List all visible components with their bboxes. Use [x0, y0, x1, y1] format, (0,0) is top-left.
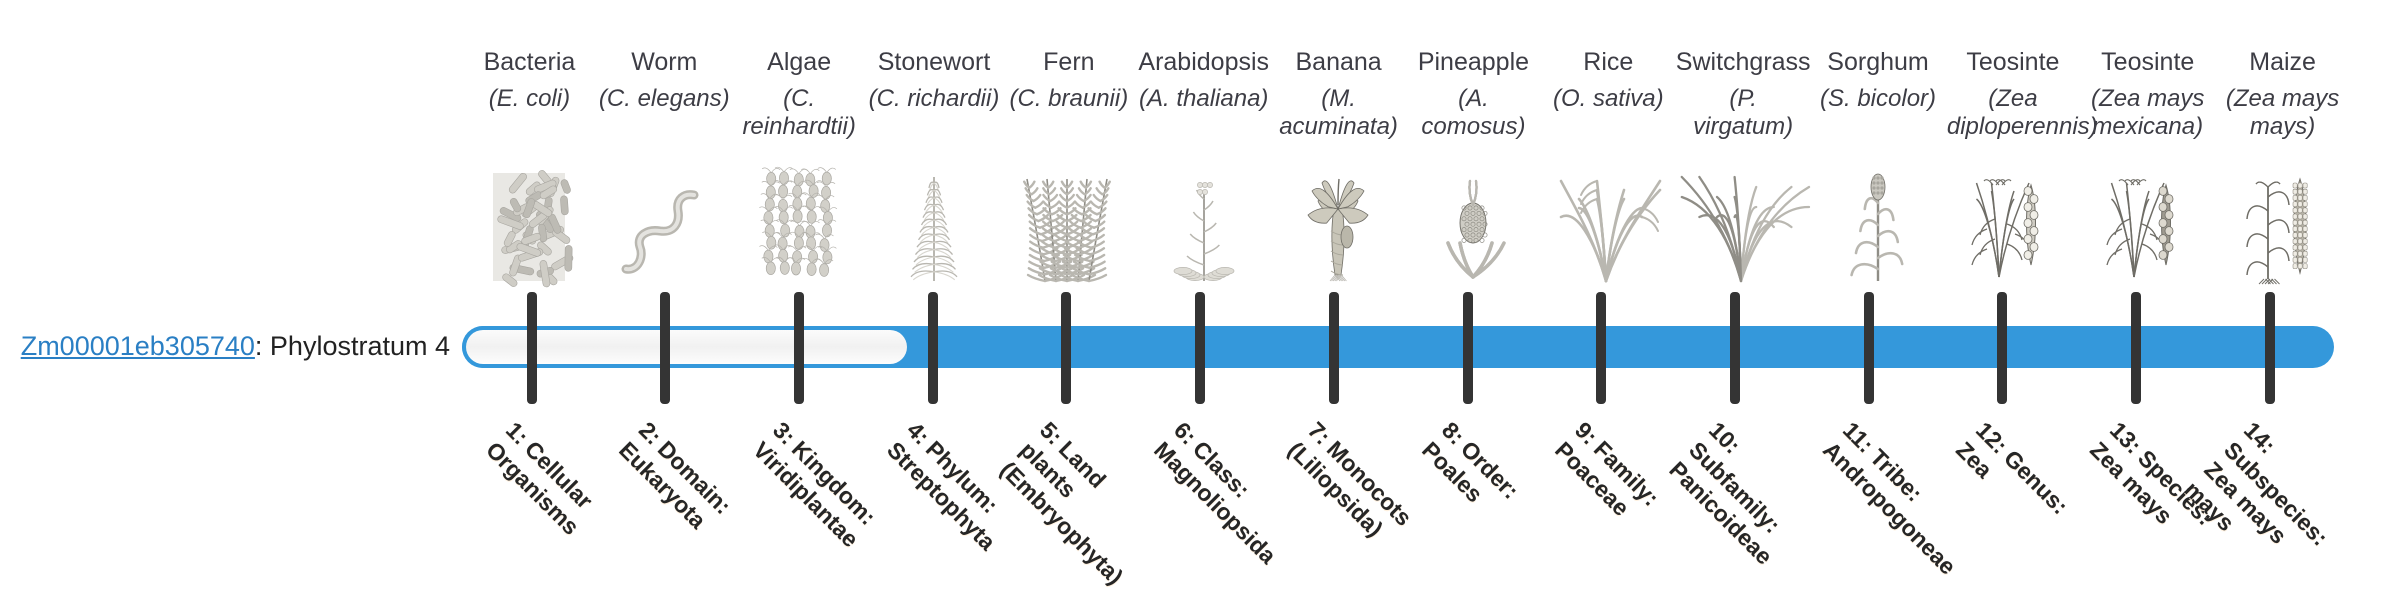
species-latin-name: (C. richardii): [868, 85, 1000, 113]
stratum-tick-4[interactable]: [928, 292, 938, 404]
species-latin-name: (S. bicolor): [1812, 85, 1944, 113]
stratum-tick-7[interactable]: [1329, 292, 1339, 404]
stratum-tick-13[interactable]: [2131, 292, 2141, 404]
phylostratigraphy-diagram: Zm00001eb305740: Phylostratum 4 Bacteria…: [0, 0, 2400, 580]
stratum-tick-11[interactable]: [1864, 292, 1874, 404]
species-common-name: Maize: [2249, 48, 2316, 77]
stratum-tick-5[interactable]: [1061, 292, 1071, 404]
algae-cells-icon: [738, 166, 860, 281]
stratum-rank-label-3: 3: Kingdom: Viridiplantae: [747, 416, 890, 559]
stratum-rank-label-4: 4: Phylum: Streptophyta: [881, 416, 1024, 559]
species-common-name: Banana: [1295, 48, 1381, 77]
species-column-arabidopsis-6: Arabidopsis(A. thaliana): [1136, 48, 1271, 298]
stratum-tick-9[interactable]: [1596, 292, 1606, 404]
species-latin-name: (Zea diploperennis): [1947, 85, 2079, 142]
stratum-rank-label-10: 10: Subfamily: Panicoideae: [1663, 416, 1826, 579]
stratum-rank-label-5: 5: Land plants (Embryophyta): [995, 416, 1158, 579]
species-common-name: Stonewort: [878, 48, 991, 77]
species-column-algae-3: Algae(C. reinhardtii): [732, 48, 867, 298]
stratum-tick-12[interactable]: [1997, 292, 2007, 404]
species-column-switchgrass-10: Switchgrass(P. virgatum): [1676, 48, 1811, 298]
species-common-name: Pineapple: [1418, 48, 1529, 77]
species-common-name: Rice: [1583, 48, 1633, 77]
species-column-banana-7: Banana(M. acuminata): [1271, 48, 1406, 298]
bacteria-rods-icon: [468, 166, 590, 281]
stratum-rank-label-12: 12: Genus: Zea: [1951, 416, 2094, 559]
teosinte-plant-ear-icon: [1952, 166, 2074, 281]
species-common-name: Teosinte: [2101, 48, 2194, 77]
gene-phylostratum-label: Zm00001eb305740: Phylostratum 4: [0, 333, 450, 360]
species-latin-name: (M. acuminata): [1273, 85, 1405, 142]
species-latin-name: (A. comosus): [1407, 85, 1539, 142]
sorghum-panicle-icon: [1817, 166, 1939, 281]
switchgrass-clump-icon: [1682, 166, 1804, 281]
stratum-rank-label-8: 8: Order: Poales: [1416, 416, 1559, 559]
species-column-fern-5: Fern(C. braunii): [1001, 48, 1136, 298]
species-common-name: Bacteria: [484, 48, 576, 77]
maize-plant-cob-icon: [2222, 166, 2344, 281]
species-column-teosinte-13: Teosinte(Zea mays mexicana): [2080, 48, 2215, 298]
species-column-bacteria-1: Bacteria(E. coli): [462, 48, 597, 298]
species-common-name: Arabidopsis: [1138, 48, 1269, 77]
teosinte-plant-ear-icon: [2087, 166, 2209, 281]
stratum-rank-text: Class: Magnoliopsida: [1149, 436, 1281, 569]
species-latin-name: (C. reinhardtii): [733, 85, 865, 142]
stratum-rank-text: Domain: Eukaryota: [614, 436, 736, 534]
species-column-worm-2: Worm(C. elegans): [597, 48, 732, 298]
stratum-tick-1[interactable]: [527, 292, 537, 404]
stratum-rank-text: Tribe: Andropogoneae: [1818, 437, 1961, 580]
arabidopsis-rosette-icon: [1143, 166, 1265, 281]
gene-id-link[interactable]: Zm00001eb305740: [21, 331, 255, 361]
stratum-tick-10[interactable]: [1730, 292, 1740, 404]
species-common-name: Sorghum: [1827, 48, 1928, 77]
fern-frond-icon: [1008, 166, 1130, 281]
species-column-stonewort-4: Stonewort(C. richardii): [867, 48, 1002, 298]
species-common-name: Algae: [767, 48, 831, 77]
species-common-name: Switchgrass: [1676, 48, 1811, 77]
species-header-row: Bacteria(E. coli)Worm(C. elegans)Algae(C…: [462, 48, 2350, 298]
gene-label-separator: :: [255, 331, 270, 361]
stratum-tick-6[interactable]: [1195, 292, 1205, 404]
species-common-name: Worm: [631, 48, 697, 77]
species-column-pineapple-8: Pineapple(A. comosus): [1406, 48, 1541, 298]
stratum-rank-text: Monocots (Liliopsida): [1283, 436, 1417, 542]
species-column-sorghum-11: Sorghum(S. bicolor): [1811, 48, 1946, 298]
species-latin-name: (Zea mays mays): [2217, 85, 2349, 142]
stonewort-alga-icon: [873, 166, 995, 281]
species-common-name: Teosinte: [1966, 48, 2059, 77]
stratum-rank-text: Cellular Organisms: [481, 436, 598, 540]
stratum-rank-text: Kingdom: Viridiplantae: [748, 436, 881, 553]
nematode-worm-icon: [603, 166, 725, 281]
stratum-rank-text: Genus: Zea: [1951, 437, 2073, 520]
species-latin-name: (O. sativa): [1542, 85, 1674, 113]
stratum-rank-text: Order: Poales: [1417, 436, 1524, 508]
stratum-tick-2[interactable]: [660, 292, 670, 404]
banana-palm-icon: [1278, 166, 1400, 281]
species-latin-name: (Zea mays mexicana): [2082, 85, 2214, 142]
stratum-tick-3[interactable]: [794, 292, 804, 404]
species-column-maize-14: Maize(Zea mays mays): [2215, 48, 2350, 298]
stratum-rank-label-14: 14: Subspecies: Zea mays mays: [2178, 416, 2361, 599]
stratum-rank-label-2: 2: Domain: Eukaryota: [614, 416, 757, 559]
species-latin-name: (A. thaliana): [1138, 85, 1270, 113]
phylostratum-value: Phylostratum 4: [270, 331, 450, 361]
species-column-teosinte-12: Teosinte(Zea diploperennis): [1945, 48, 2080, 298]
species-latin-name: (C. elegans): [598, 85, 730, 113]
rice-grass-icon: [1547, 166, 1669, 281]
stratum-tick-8[interactable]: [1463, 292, 1473, 404]
stratum-rank-label-11: 11: Tribe: Andropogoneae: [1817, 416, 1960, 559]
species-common-name: Fern: [1043, 48, 1094, 77]
species-column-rice-9: Rice(O. sativa): [1541, 48, 1676, 298]
stratum-rank-label-6: 6: Class: Magnoliopsida: [1148, 416, 1291, 559]
stratum-rank-label-1: 1: Cellular Organisms: [480, 416, 623, 559]
stratum-rank-label-7: 7: Monocots (Liliopsida): [1282, 416, 1425, 559]
pineapple-plant-icon: [1412, 166, 1534, 281]
stratum-tick-14[interactable]: [2265, 292, 2275, 404]
species-latin-name: (C. braunii): [1003, 85, 1135, 113]
stratum-rank-text: Phylum: Streptophyta: [882, 436, 1003, 556]
phylostratum-progress-bar[interactable]: [462, 326, 2334, 368]
species-latin-name: (P. virgatum): [1677, 85, 1809, 142]
species-latin-name: (E. coli): [463, 85, 595, 113]
stratum-rank-text: Family: Poaceae: [1550, 436, 1664, 521]
stratum-rank-label-9: 9: Family: Poaceae: [1550, 416, 1693, 559]
